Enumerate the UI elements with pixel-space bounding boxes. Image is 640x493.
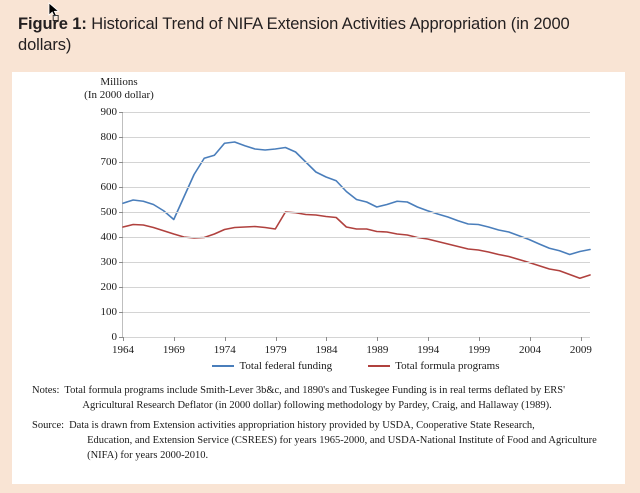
source-line-2: Education, and Extension Service (CSREES… [69,434,612,449]
gridline [123,137,590,138]
y-tick-mark [119,112,123,113]
notes-paragraph: Notes: Total formula programs include Sm… [32,384,612,414]
source-paragraph: Source: Data is drawn from Extension act… [32,419,612,464]
legend-item-formula: Total formula programs [368,360,499,372]
figure-caption: Figure 1: Historical Trend of NIFA Exten… [18,14,622,56]
legend-swatch-formula [368,365,390,367]
y-tick-label: 300 [101,256,118,268]
notes-body: Total formula programs include Smith-Lev… [64,384,612,414]
y-tick-mark [119,262,123,263]
y-tick-label: 200 [101,281,118,293]
y-tick-mark [119,187,123,188]
figure-page: Figure 1: Historical Trend of NIFA Exten… [0,0,640,493]
source-label: Source: [32,419,69,464]
x-tick-mark [326,337,327,341]
figure-card: Millions (In 2000 dollar) 90080070060050… [12,72,625,484]
x-tick-label: 1964 [112,344,134,356]
y-tick-label: 100 [101,306,118,318]
figure-label: Figure 1: [18,15,87,33]
notes-label: Notes: [32,384,64,414]
x-tick-label: 2004 [519,344,541,356]
gridline [123,312,590,313]
x-tick-mark [276,337,277,341]
y-tick-mark [119,237,123,238]
x-tick-label: 1999 [468,344,490,356]
y-tick-mark [119,287,123,288]
notes-line-2: Agricultural Research Deflator (in 2000 … [64,399,612,414]
notes-line-1: Total formula programs include Smith-Lev… [64,385,565,396]
y-tick-mark [119,162,123,163]
legend-swatch-federal [212,365,234,367]
x-tick-mark [377,337,378,341]
y-tick-label: 800 [101,131,118,143]
gridline [123,337,590,338]
y-axis-title: Millions (In 2000 dollar) [64,76,174,103]
figure-caption-text: Historical Trend of NIFA Extension Activ… [18,15,570,54]
x-tick-mark [530,337,531,341]
source-line-3: (NIFA) for years 2000-2010. [69,449,612,464]
series-lines [123,112,590,337]
line-chart: Millions (In 2000 dollar) 90080070060050… [12,72,625,377]
y-tick-label: 700 [101,156,118,168]
y-tick-label: 900 [101,106,118,118]
y-tick-label: 0 [112,331,118,343]
y-tick-label: 400 [101,231,118,243]
source-line-1: Data is drawn from Extension activities … [69,420,535,431]
legend-label-federal: Total federal funding [239,360,332,372]
y-tick-label: 500 [101,206,118,218]
y-tick-mark [119,137,123,138]
legend-item-federal: Total federal funding [212,360,332,372]
figure-notes: Notes: Total formula programs include Sm… [32,384,612,469]
y-tick-mark [119,212,123,213]
x-tick-label: 2009 [570,344,592,356]
x-tick-label: 1984 [315,344,337,356]
x-tick-mark [428,337,429,341]
gridline [123,262,590,263]
y-axis-title-line1: Millions [64,76,174,89]
x-tick-label: 1974 [214,344,236,356]
gridline [123,162,590,163]
x-tick-mark [479,337,480,341]
x-tick-mark [123,337,124,341]
gridline [123,112,590,113]
x-tick-mark [174,337,175,341]
x-tick-label: 1994 [417,344,439,356]
gridline [123,287,590,288]
x-tick-mark [581,337,582,341]
gridline [123,212,590,213]
x-tick-label: 1989 [366,344,388,356]
legend-label-formula: Total formula programs [395,360,499,372]
plot-area: 9008007006005004003002001000196419691974… [122,112,590,337]
gridline [123,187,590,188]
y-tick-label: 600 [101,181,118,193]
gridline [123,237,590,238]
source-body: Data is drawn from Extension activities … [69,419,612,464]
y-axis-title-line2: (In 2000 dollar) [64,89,174,102]
x-tick-label: 1969 [163,344,185,356]
chart-legend: Total federal funding Total formula prog… [122,360,590,372]
y-tick-mark [119,312,123,313]
series-line-formula [123,212,590,278]
x-tick-label: 1979 [265,344,287,356]
x-tick-mark [225,337,226,341]
